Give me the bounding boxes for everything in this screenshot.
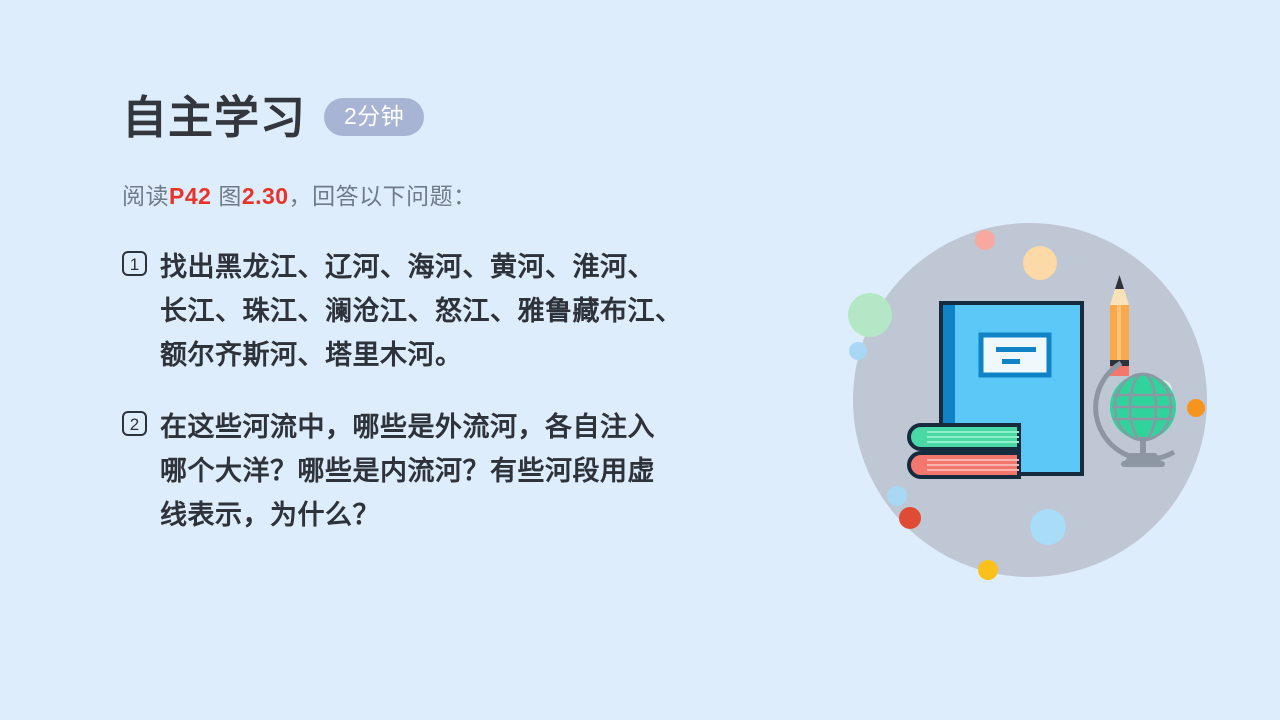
- book-red-page: [927, 459, 1019, 461]
- question-line: 找出黑龙江、辽河、海河、黄河、淮河、: [160, 245, 683, 289]
- dot-peach: [1023, 246, 1057, 280]
- globe-base: [1125, 453, 1161, 461]
- question-marker: 1: [122, 251, 147, 276]
- instruction-page-ref: P42: [169, 183, 211, 209]
- dot-orange: [1187, 399, 1205, 417]
- dot-pink: [975, 230, 995, 250]
- dot-sky: [887, 486, 907, 506]
- question-marker: 2: [122, 411, 147, 436]
- heading-row: 自主学习 2分钟: [122, 86, 822, 148]
- instruction-figure-label: 图: [211, 183, 241, 209]
- question-text: 在这些河流中，哪些是外流河，各自注入 哪个大洋？哪些是内流河？有些河段用虚 线表…: [160, 405, 655, 537]
- globe-foot: [1121, 461, 1165, 467]
- dot-sky-small: [849, 342, 867, 360]
- book-red-page: [927, 469, 1019, 471]
- question-line: 在这些河流中，哪些是外流河，各自注入: [160, 405, 655, 449]
- dot-yellow: [978, 560, 998, 580]
- study-illustration: [845, 215, 1215, 585]
- book-green-page: [927, 441, 1019, 443]
- question-line: 额尔齐斯河、塔里木河。: [160, 333, 683, 377]
- question-line: 长江、珠江、澜沧江、怒江、雅鲁藏布江、: [160, 289, 683, 333]
- instruction-line: 阅读P42 图2.30，回答以下问题：: [122, 177, 822, 211]
- book-green-page: [927, 436, 1019, 438]
- book-red-page: [927, 464, 1019, 466]
- question-line: 线表示，为什么？: [160, 493, 655, 537]
- instruction-tail: ，回答以下问题：: [289, 183, 477, 209]
- dot-mint: [848, 293, 892, 337]
- book-green-page: [927, 431, 1019, 433]
- instruction-read-label: 阅读: [122, 183, 169, 209]
- list-item: 1 找出黑龙江、辽河、海河、黄河、淮河、 长江、珠江、澜沧江、怒江、雅鲁藏布江、…: [122, 245, 822, 377]
- question-line: 哪个大洋？哪些是内流河？有些河段用虚: [160, 449, 655, 493]
- globe-stem: [1140, 437, 1146, 455]
- notebook-label-line-2: [1002, 359, 1020, 364]
- page-title: 自主学习: [122, 95, 306, 140]
- duration-badge: 2分钟: [324, 98, 424, 136]
- notebook-label-line-1: [996, 347, 1036, 352]
- dot-red: [899, 507, 921, 529]
- notebook-spine: [943, 305, 955, 427]
- list-item: 2 在这些河流中，哪些是外流河，各自注入 哪个大洋？哪些是内流河？有些河段用虚 …: [122, 405, 822, 537]
- instruction-figure-ref: 2.30: [242, 183, 289, 209]
- content-column: 自主学习 2分钟 阅读P42 图2.30，回答以下问题： 1 找出黑龙江、辽河、…: [122, 86, 822, 565]
- question-list: 1 找出黑龙江、辽河、海河、黄河、淮河、 长江、珠江、澜沧江、怒江、雅鲁藏布江、…: [122, 245, 822, 537]
- dot-sky-large: [1030, 509, 1066, 545]
- notebook-label: [981, 335, 1049, 375]
- stacked-books-icon: [909, 423, 1019, 477]
- slide-root: 自主学习 2分钟 阅读P42 图2.30，回答以下问题： 1 找出黑龙江、辽河、…: [0, 0, 1280, 720]
- pencil-body-highlight: [1117, 305, 1121, 360]
- question-text: 找出黑龙江、辽河、海河、黄河、淮河、 长江、珠江、澜沧江、怒江、雅鲁藏布江、 额…: [160, 245, 683, 377]
